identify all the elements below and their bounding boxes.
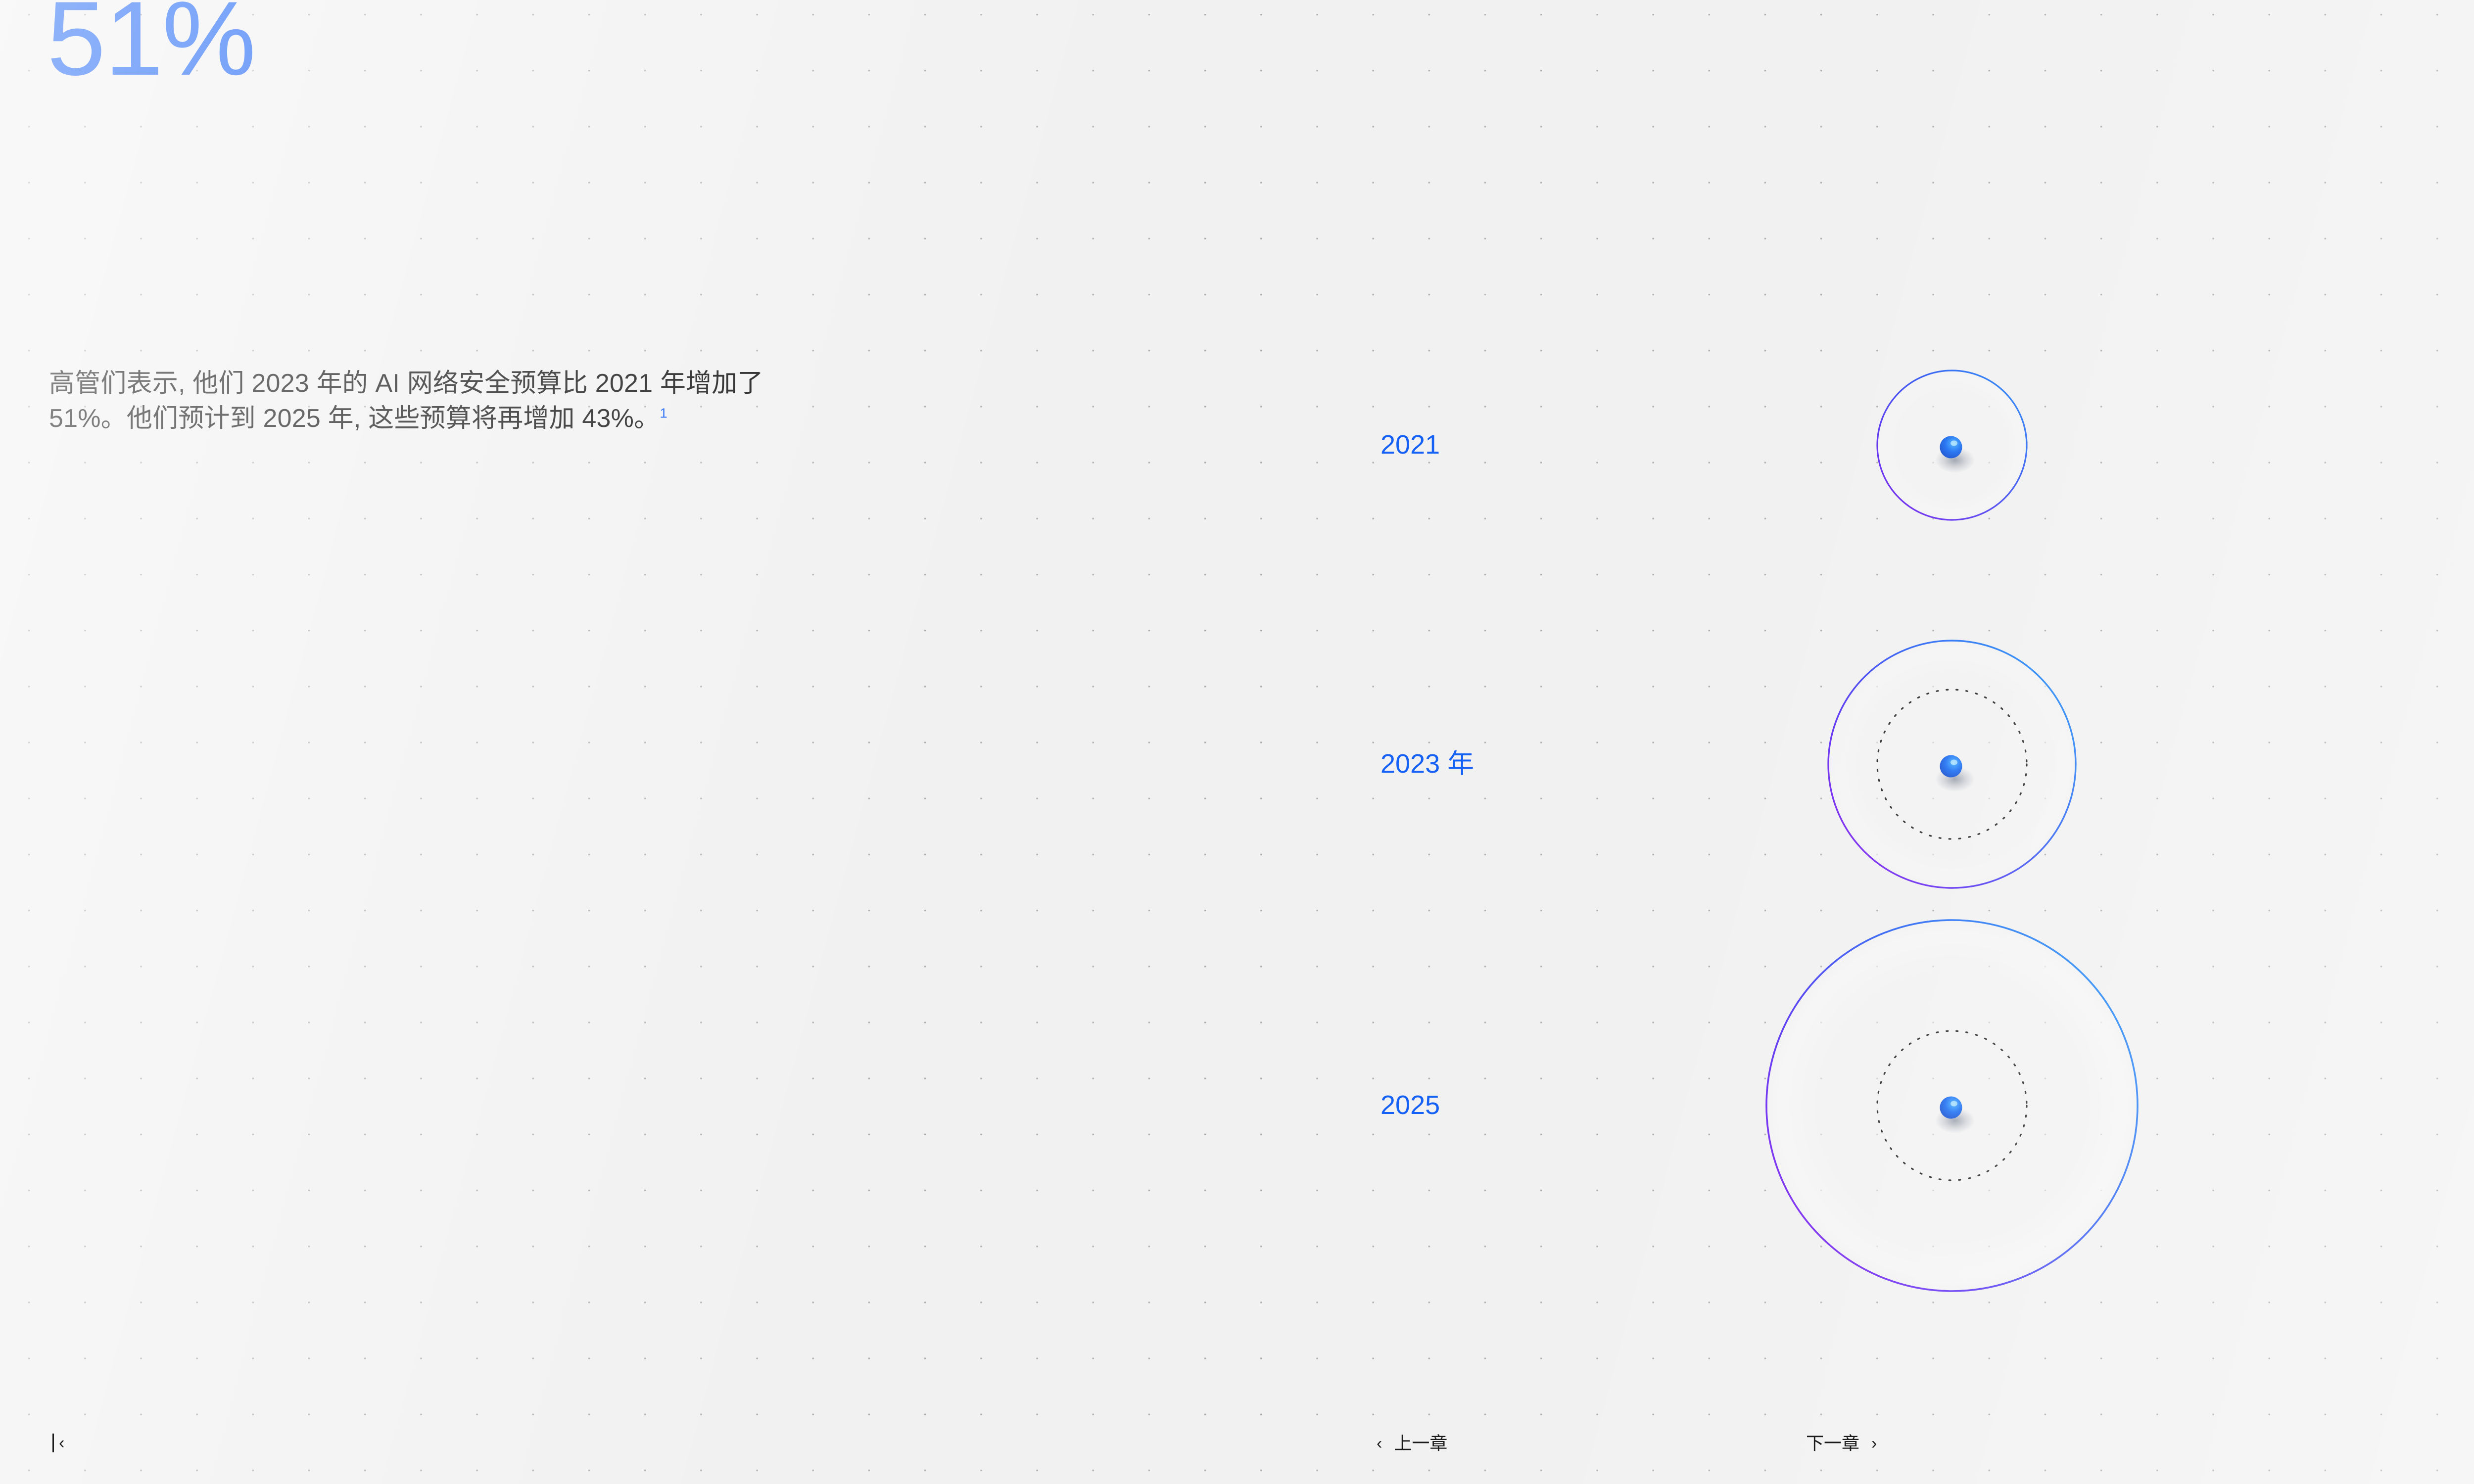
- bubble-group-2025: [1512, 920, 2138, 1292]
- body-paragraph: 高管们表示, 他们 2023 年的 AI 网络安全预算比 2021 年增加了 5…: [49, 366, 841, 436]
- bubble-label-2023: 2023 年: [1380, 749, 1474, 779]
- bubble-label-2021: 2021: [1380, 430, 1440, 460]
- previous-chapter-button[interactable]: ‹ 上一章: [1377, 1435, 1447, 1452]
- bubble-label-2025: 2025: [1380, 1090, 1440, 1120]
- chevron-right-icon: ›: [1871, 1435, 1877, 1452]
- dot-grid-background: [0, 0, 2474, 1484]
- next-chapter-button[interactable]: 下一章 ›: [1806, 1435, 1877, 1452]
- next-chapter-label: 下一章: [1806, 1435, 1859, 1452]
- bubble-chart: 2021 2023 年 2025: [0, 0, 2474, 1484]
- previous-chapter-label: 上一章: [1394, 1435, 1447, 1452]
- first-page-button[interactable]: ‹: [52, 1434, 76, 1452]
- body-text: 高管们表示, 他们 2023 年的 AI 网络安全预算比 2021 年增加了 5…: [49, 369, 763, 433]
- bubble-group-2021: [1512, 370, 2027, 520]
- page-sheen-overlay: [0, 0, 2474, 1484]
- footer-navigation: ‹ ‹ 上一章 下一章 › 8: [0, 1390, 2474, 1484]
- first-page-bar-icon: [52, 1434, 54, 1452]
- footnote-marker: 1: [660, 405, 667, 420]
- bubble-group-2023: [1512, 640, 2076, 888]
- chevron-left-icon: ‹: [59, 1435, 64, 1451]
- stat-headline: 51%: [47, 0, 255, 92]
- chevron-left-icon: ‹: [1377, 1435, 1382, 1452]
